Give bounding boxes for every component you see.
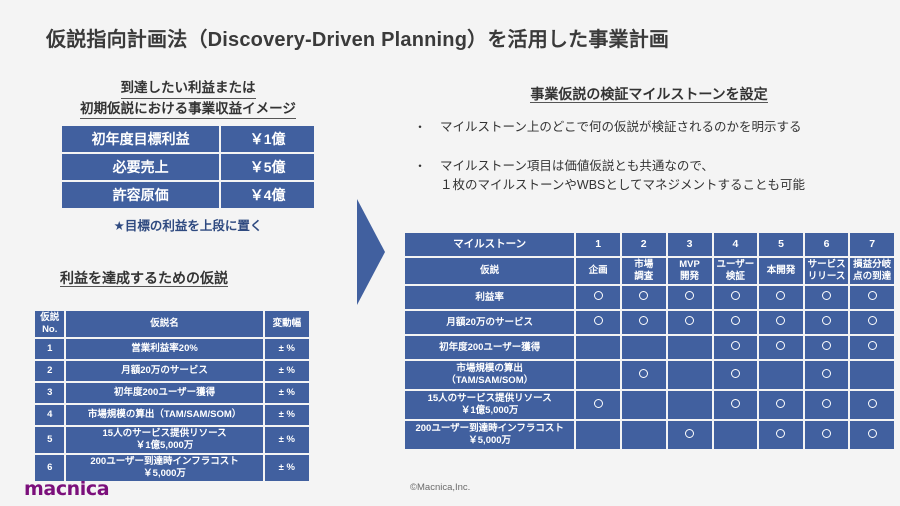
- profit-table: 初年度目標利益 ￥1億 必要売上 ￥5億 許容原価 ￥4億: [60, 124, 316, 210]
- milestone-mark-empty: [850, 361, 894, 389]
- circle-mark-icon: [731, 291, 740, 300]
- stage-6-line2: リリース: [808, 271, 846, 282]
- circle-mark-icon: [822, 341, 831, 350]
- stage-4-line2: 検証: [726, 271, 745, 282]
- milestone-row-label-line2: ￥1億5,000万: [461, 405, 519, 416]
- stage-7-line2: 点の到達: [853, 271, 891, 282]
- flow-arrow-icon: [357, 199, 385, 305]
- page-title: 仮説指向計画法（Discovery-Driven Planning）を活用した事…: [46, 23, 669, 52]
- circle-mark-icon: [685, 291, 694, 300]
- milestone-row-label: 月額20万のサービス: [405, 311, 574, 334]
- milestone-mark-filled: [850, 336, 894, 359]
- milestone-mark-filled: [759, 311, 803, 334]
- table-row: 月額20万のサービス: [405, 311, 894, 334]
- milestone-row-label: 200ユーザー到達時インフラコスト￥5,000万: [405, 421, 574, 449]
- milestone-mark-filled: [576, 311, 620, 334]
- stage-7-line1: 損益分岐: [853, 259, 891, 270]
- milestone-mark-empty: [714, 421, 758, 449]
- milestone-mark-filled: [850, 286, 894, 309]
- table-row: 1 営業利益率20% ± %: [35, 339, 309, 359]
- hyp-no: 2: [35, 361, 64, 381]
- milestone-mark-filled: [622, 286, 666, 309]
- profit-heading-line-2: 初期仮説における事業収益イメージ: [80, 99, 296, 120]
- stage-3: MVP 開発: [668, 258, 712, 284]
- circle-mark-icon: [594, 399, 603, 408]
- milestone-mark-filled: [805, 391, 849, 419]
- hypothesis-heading-text: 利益を達成するための仮説: [60, 270, 228, 287]
- milestone-row-label-line2: （TAM/SAM/SOM）: [446, 375, 533, 386]
- hyp-no: 6: [35, 455, 64, 481]
- milestone-mark-empty: [576, 361, 620, 389]
- circle-mark-icon: [868, 316, 877, 325]
- hyp-no: 5: [35, 427, 64, 453]
- milestone-mark-filled: [759, 286, 803, 309]
- milestone-mark-filled: [805, 336, 849, 359]
- hyp-range: ± %: [265, 383, 309, 403]
- milestone-number-1: 1: [576, 233, 620, 256]
- milestone-mark-filled: [759, 421, 803, 449]
- table-row: 利益率: [405, 286, 894, 309]
- circle-mark-icon: [868, 291, 877, 300]
- hyp-range: ± %: [265, 339, 309, 359]
- profit-row-label: 必要売上: [62, 154, 219, 180]
- milestone-table-body: 利益率月額20万のサービス初年度200ユーザー獲得市場規模の算出（TAM/SAM…: [405, 286, 894, 449]
- stage-1: 企画: [576, 258, 620, 284]
- milestone-mark-filled: [714, 361, 758, 389]
- stage-2-line2: 調査: [634, 271, 653, 282]
- milestone-section-heading: 事業仮説の検証マイルストーンを設定: [403, 84, 895, 104]
- stage-3-line1: MVP: [679, 259, 700, 270]
- milestone-mark-empty: [622, 391, 666, 419]
- table-row: 6 200ユーザー到達時インフラコスト ￥5,000万 ± %: [35, 455, 309, 481]
- milestone-mark-filled: [714, 311, 758, 334]
- table-row: 4 市場規模の算出（TAM/SAM/SOM） ± %: [35, 405, 309, 425]
- circle-mark-icon: [776, 341, 785, 350]
- hypothesis-header-label: 仮説: [405, 258, 574, 284]
- bullet-line-1: マイルストーン上のどこで何の仮説が検証されるのかを明示する: [440, 120, 802, 134]
- circle-mark-icon: [639, 369, 648, 378]
- milestone-mark-filled: [805, 286, 849, 309]
- circle-mark-icon: [639, 291, 648, 300]
- hyp-range: ± %: [265, 405, 309, 425]
- milestone-row-label-line1: 市場規模の算出: [456, 363, 523, 374]
- milestone-mark-filled: [622, 311, 666, 334]
- table-row: 200ユーザー到達時インフラコスト￥5,000万: [405, 421, 894, 449]
- hypothesis-section-heading: 利益を達成するための仮説: [60, 268, 228, 288]
- milestone-row-label-line1: 15人のサービス提供リソース: [428, 393, 552, 404]
- table-row: 15人のサービス提供リソース￥1億5,000万: [405, 391, 894, 419]
- bullet-line-2: １枚のマイルストーンやWBSとしてマネジメントすることも可能: [440, 178, 805, 192]
- bullet-line-1: マイルストーン項目は価値仮説とも共通なので、: [440, 159, 714, 173]
- milestone-number-5: 5: [759, 233, 803, 256]
- milestone-mark-filled: [805, 361, 849, 389]
- milestone-mark-filled: [759, 391, 803, 419]
- hyp-name-line2: ￥5,000万: [143, 468, 186, 479]
- circle-mark-icon: [594, 291, 603, 300]
- table-row: 2 月額20万のサービス ± %: [35, 361, 309, 381]
- milestone-heading-text: 事業仮説の検証マイルストーンを設定: [530, 86, 767, 103]
- milestone-row-label: 初年度200ユーザー獲得: [405, 336, 574, 359]
- milestone-mark-filled: [668, 311, 712, 334]
- milestone-mark-filled: [805, 311, 849, 334]
- milestone-mark-empty: [622, 336, 666, 359]
- table-row: 初年度200ユーザー獲得: [405, 336, 894, 359]
- hyp-name: 営業利益率20%: [66, 339, 262, 359]
- circle-mark-icon: [868, 399, 877, 408]
- milestone-mark-empty: [668, 391, 712, 419]
- profit-row-value: ￥5億: [221, 154, 314, 180]
- hyp-name: 200ユーザー到達時インフラコスト ￥5,000万: [66, 455, 262, 481]
- macnica-logo: macnica: [24, 478, 109, 500]
- milestone-mark-empty: [576, 421, 620, 449]
- milestone-mark-filled: [714, 391, 758, 419]
- hyp-name-line2: ￥1億5,000万: [136, 440, 194, 451]
- milestone-number-4: 4: [714, 233, 758, 256]
- col-header-no: 仮説 No.: [35, 311, 64, 337]
- milestone-number-3: 3: [668, 233, 712, 256]
- hyp-no: 1: [35, 339, 64, 359]
- stage-1-line1: 企画: [589, 265, 608, 276]
- profit-row-label: 許容原価: [62, 182, 219, 208]
- milestone-mark-filled: [850, 391, 894, 419]
- circle-mark-icon: [731, 369, 740, 378]
- milestone-mark-filled: [850, 421, 894, 449]
- stage-6-line1: サービス: [808, 259, 846, 270]
- milestone-row-label: 15人のサービス提供リソース￥1億5,000万: [405, 391, 574, 419]
- copyright-text: ©Macnica,Inc.: [410, 482, 470, 493]
- stage-2-line1: 市場: [634, 259, 653, 270]
- table-row: 5 15人のサービス提供リソース ￥1億5,000万 ± %: [35, 427, 309, 453]
- col-header-no-line2: No.: [42, 324, 57, 335]
- hyp-name: 市場規模の算出（TAM/SAM/SOM）: [66, 405, 262, 425]
- hyp-name-line1: 15人のサービス提供リソース: [103, 428, 227, 439]
- circle-mark-icon: [822, 429, 831, 438]
- stage-6: サービス リリース: [805, 258, 849, 284]
- milestone-mark-empty: [622, 421, 666, 449]
- table-header-row: 仮説 企画 市場 調査 MVP 開発 ユーザー 検証 本: [405, 258, 894, 284]
- stage-7: 損益分岐 点の到達: [850, 258, 894, 284]
- milestone-row-label-line2: ￥5,000万: [468, 435, 511, 446]
- profit-note: ★目標の利益を上段に置く: [60, 215, 316, 234]
- milestone-mark-empty: [668, 336, 712, 359]
- col-header-name: 仮説名: [66, 311, 262, 337]
- circle-mark-icon: [822, 369, 831, 378]
- circle-mark-icon: [776, 291, 785, 300]
- bullet-text: マイルストーン上のどこで何の仮説が検証されるのかを明示する: [440, 118, 802, 137]
- hyp-name: 初年度200ユーザー獲得: [66, 383, 262, 403]
- table-row: 3 初年度200ユーザー獲得 ± %: [35, 383, 309, 403]
- table-header-row: 仮説 No. 仮説名 変動幅: [35, 311, 309, 337]
- stage-4-line1: ユーザー: [716, 259, 754, 270]
- circle-mark-icon: [594, 316, 603, 325]
- stage-4: ユーザー 検証: [714, 258, 758, 284]
- hyp-range: ± %: [265, 427, 309, 453]
- hyp-name-line1: 200ユーザー到達時インフラコスト: [90, 456, 238, 467]
- circle-mark-icon: [731, 341, 740, 350]
- circle-mark-icon: [776, 316, 785, 325]
- col-header-no-line1: 仮説: [40, 312, 59, 323]
- milestone-row-label-line1: 月額20万のサービス: [446, 317, 533, 328]
- hyp-name: 15人のサービス提供リソース ￥1億5,000万: [66, 427, 262, 453]
- circle-mark-icon: [731, 399, 740, 408]
- milestone-mark-filled: [668, 421, 712, 449]
- milestone-row-label-line1: 200ユーザー到達時インフラコスト: [415, 423, 563, 434]
- hyp-no: 4: [35, 405, 64, 425]
- milestone-mark-filled: [576, 286, 620, 309]
- milestone-number-7: 7: [850, 233, 894, 256]
- milestone-row-label: 利益率: [405, 286, 574, 309]
- milestone-table: マイルストーン 1 2 3 4 5 6 7 仮説 企画 市場 調査: [403, 231, 896, 451]
- table-header-row: マイルストーン 1 2 3 4 5 6 7: [405, 233, 894, 256]
- bullet-marker-icon: ・: [414, 157, 426, 196]
- bullet-item: ・ マイルストーン項目は価値仮説とも共通なので、 １枚のマイルストーンやWBSと…: [414, 157, 805, 196]
- circle-mark-icon: [822, 316, 831, 325]
- milestone-header-label: マイルストーン: [405, 233, 574, 256]
- stage-3-line2: 開発: [680, 271, 699, 282]
- profit-row-value: ￥1億: [221, 126, 314, 152]
- milestone-number-2: 2: [622, 233, 666, 256]
- circle-mark-icon: [868, 429, 877, 438]
- milestone-mark-filled: [714, 336, 758, 359]
- bullet-text: マイルストーン項目は価値仮説とも共通なので、 １枚のマイルストーンやWBSとして…: [440, 157, 805, 196]
- hypothesis-table: 仮説 No. 仮説名 変動幅 1 営業利益率20% ± % 2 月額20万のサー…: [33, 309, 311, 483]
- hyp-name: 月額20万のサービス: [66, 361, 262, 381]
- bullet-item: ・ マイルストーン上のどこで何の仮説が検証されるのかを明示する: [414, 118, 802, 137]
- table-row: 市場規模の算出（TAM/SAM/SOM）: [405, 361, 894, 389]
- milestone-row-label-line1: 初年度200ユーザー獲得: [439, 342, 540, 353]
- milestone-row-label-line1: 利益率: [475, 292, 504, 303]
- col-header-range: 変動幅: [265, 311, 309, 337]
- circle-mark-icon: [731, 316, 740, 325]
- profit-section-heading: 到達したい利益または 初期仮説における事業収益イメージ: [60, 78, 316, 119]
- stage-5-line1: 本開発: [767, 265, 796, 276]
- circle-mark-icon: [776, 429, 785, 438]
- circle-mark-icon: [822, 291, 831, 300]
- milestone-number-6: 6: [805, 233, 849, 256]
- circle-mark-icon: [822, 399, 831, 408]
- milestone-mark-empty: [668, 361, 712, 389]
- stage-5: 本開発: [759, 258, 803, 284]
- hyp-range: ± %: [265, 455, 309, 481]
- milestone-mark-filled: [759, 336, 803, 359]
- milestone-mark-filled: [805, 421, 849, 449]
- circle-mark-icon: [776, 399, 785, 408]
- milestone-mark-filled: [622, 361, 666, 389]
- circle-mark-icon: [685, 316, 694, 325]
- table-row: 許容原価 ￥4億: [62, 182, 314, 208]
- circle-mark-icon: [685, 429, 694, 438]
- stage-2: 市場 調査: [622, 258, 666, 284]
- profit-heading-line-1: 到達したい利益または: [121, 78, 256, 99]
- milestone-mark-empty: [759, 361, 803, 389]
- circle-mark-icon: [639, 316, 648, 325]
- milestone-mark-empty: [576, 336, 620, 359]
- milestone-mark-filled: [668, 286, 712, 309]
- profit-row-value: ￥4億: [221, 182, 314, 208]
- hyp-range: ± %: [265, 361, 309, 381]
- profit-row-label: 初年度目標利益: [62, 126, 219, 152]
- circle-mark-icon: [868, 341, 877, 350]
- milestone-row-label: 市場規模の算出（TAM/SAM/SOM）: [405, 361, 574, 389]
- table-row: 必要売上 ￥5億: [62, 154, 314, 180]
- bullet-marker-icon: ・: [414, 118, 426, 137]
- hyp-no: 3: [35, 383, 64, 403]
- milestone-mark-filled: [576, 391, 620, 419]
- milestone-mark-filled: [850, 311, 894, 334]
- table-row: 初年度目標利益 ￥1億: [62, 126, 314, 152]
- milestone-mark-filled: [714, 286, 758, 309]
